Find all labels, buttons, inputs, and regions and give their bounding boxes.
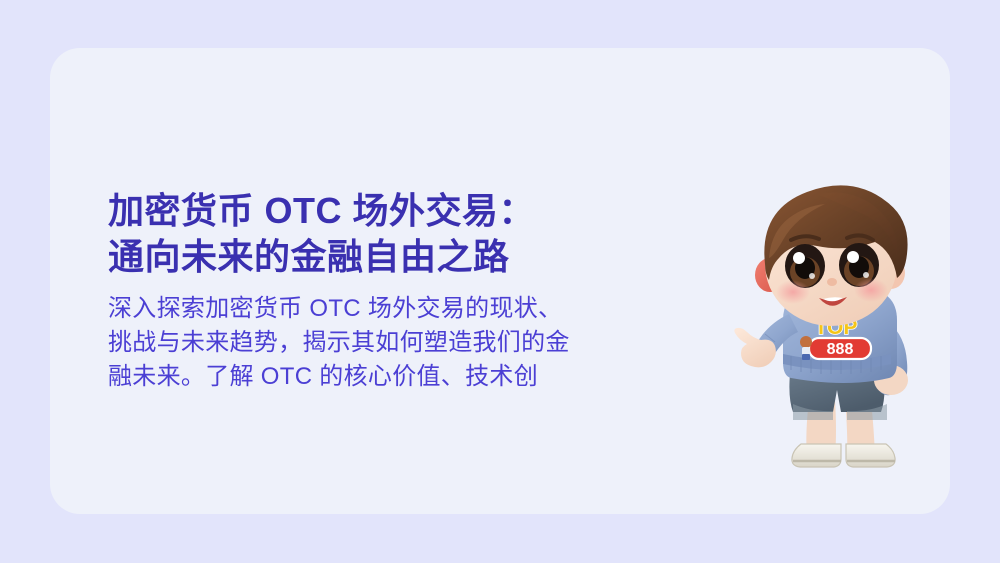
hero-card: 加密货币 OTC 场外交易： 通向未来的金融自由之路 深入探索加密货币 OTC … bbox=[50, 48, 950, 514]
page-title: 加密货币 OTC 场外交易： 通向未来的金融自由之路 bbox=[108, 188, 608, 280]
hero-description: 深入探索加密货币 OTC 场外交易的现状、 挑战与未来趋势，揭示其如何塑造我们的… bbox=[108, 292, 608, 394]
mascot-shoes bbox=[792, 444, 895, 467]
hero-text-block: 加密货币 OTC 场外交易： 通向未来的金融自由之路 深入探索加密货币 OTC … bbox=[108, 188, 608, 394]
logo-number-text: 888 bbox=[827, 341, 854, 358]
mascot-illustration: TOP 888 bbox=[705, 168, 975, 468]
